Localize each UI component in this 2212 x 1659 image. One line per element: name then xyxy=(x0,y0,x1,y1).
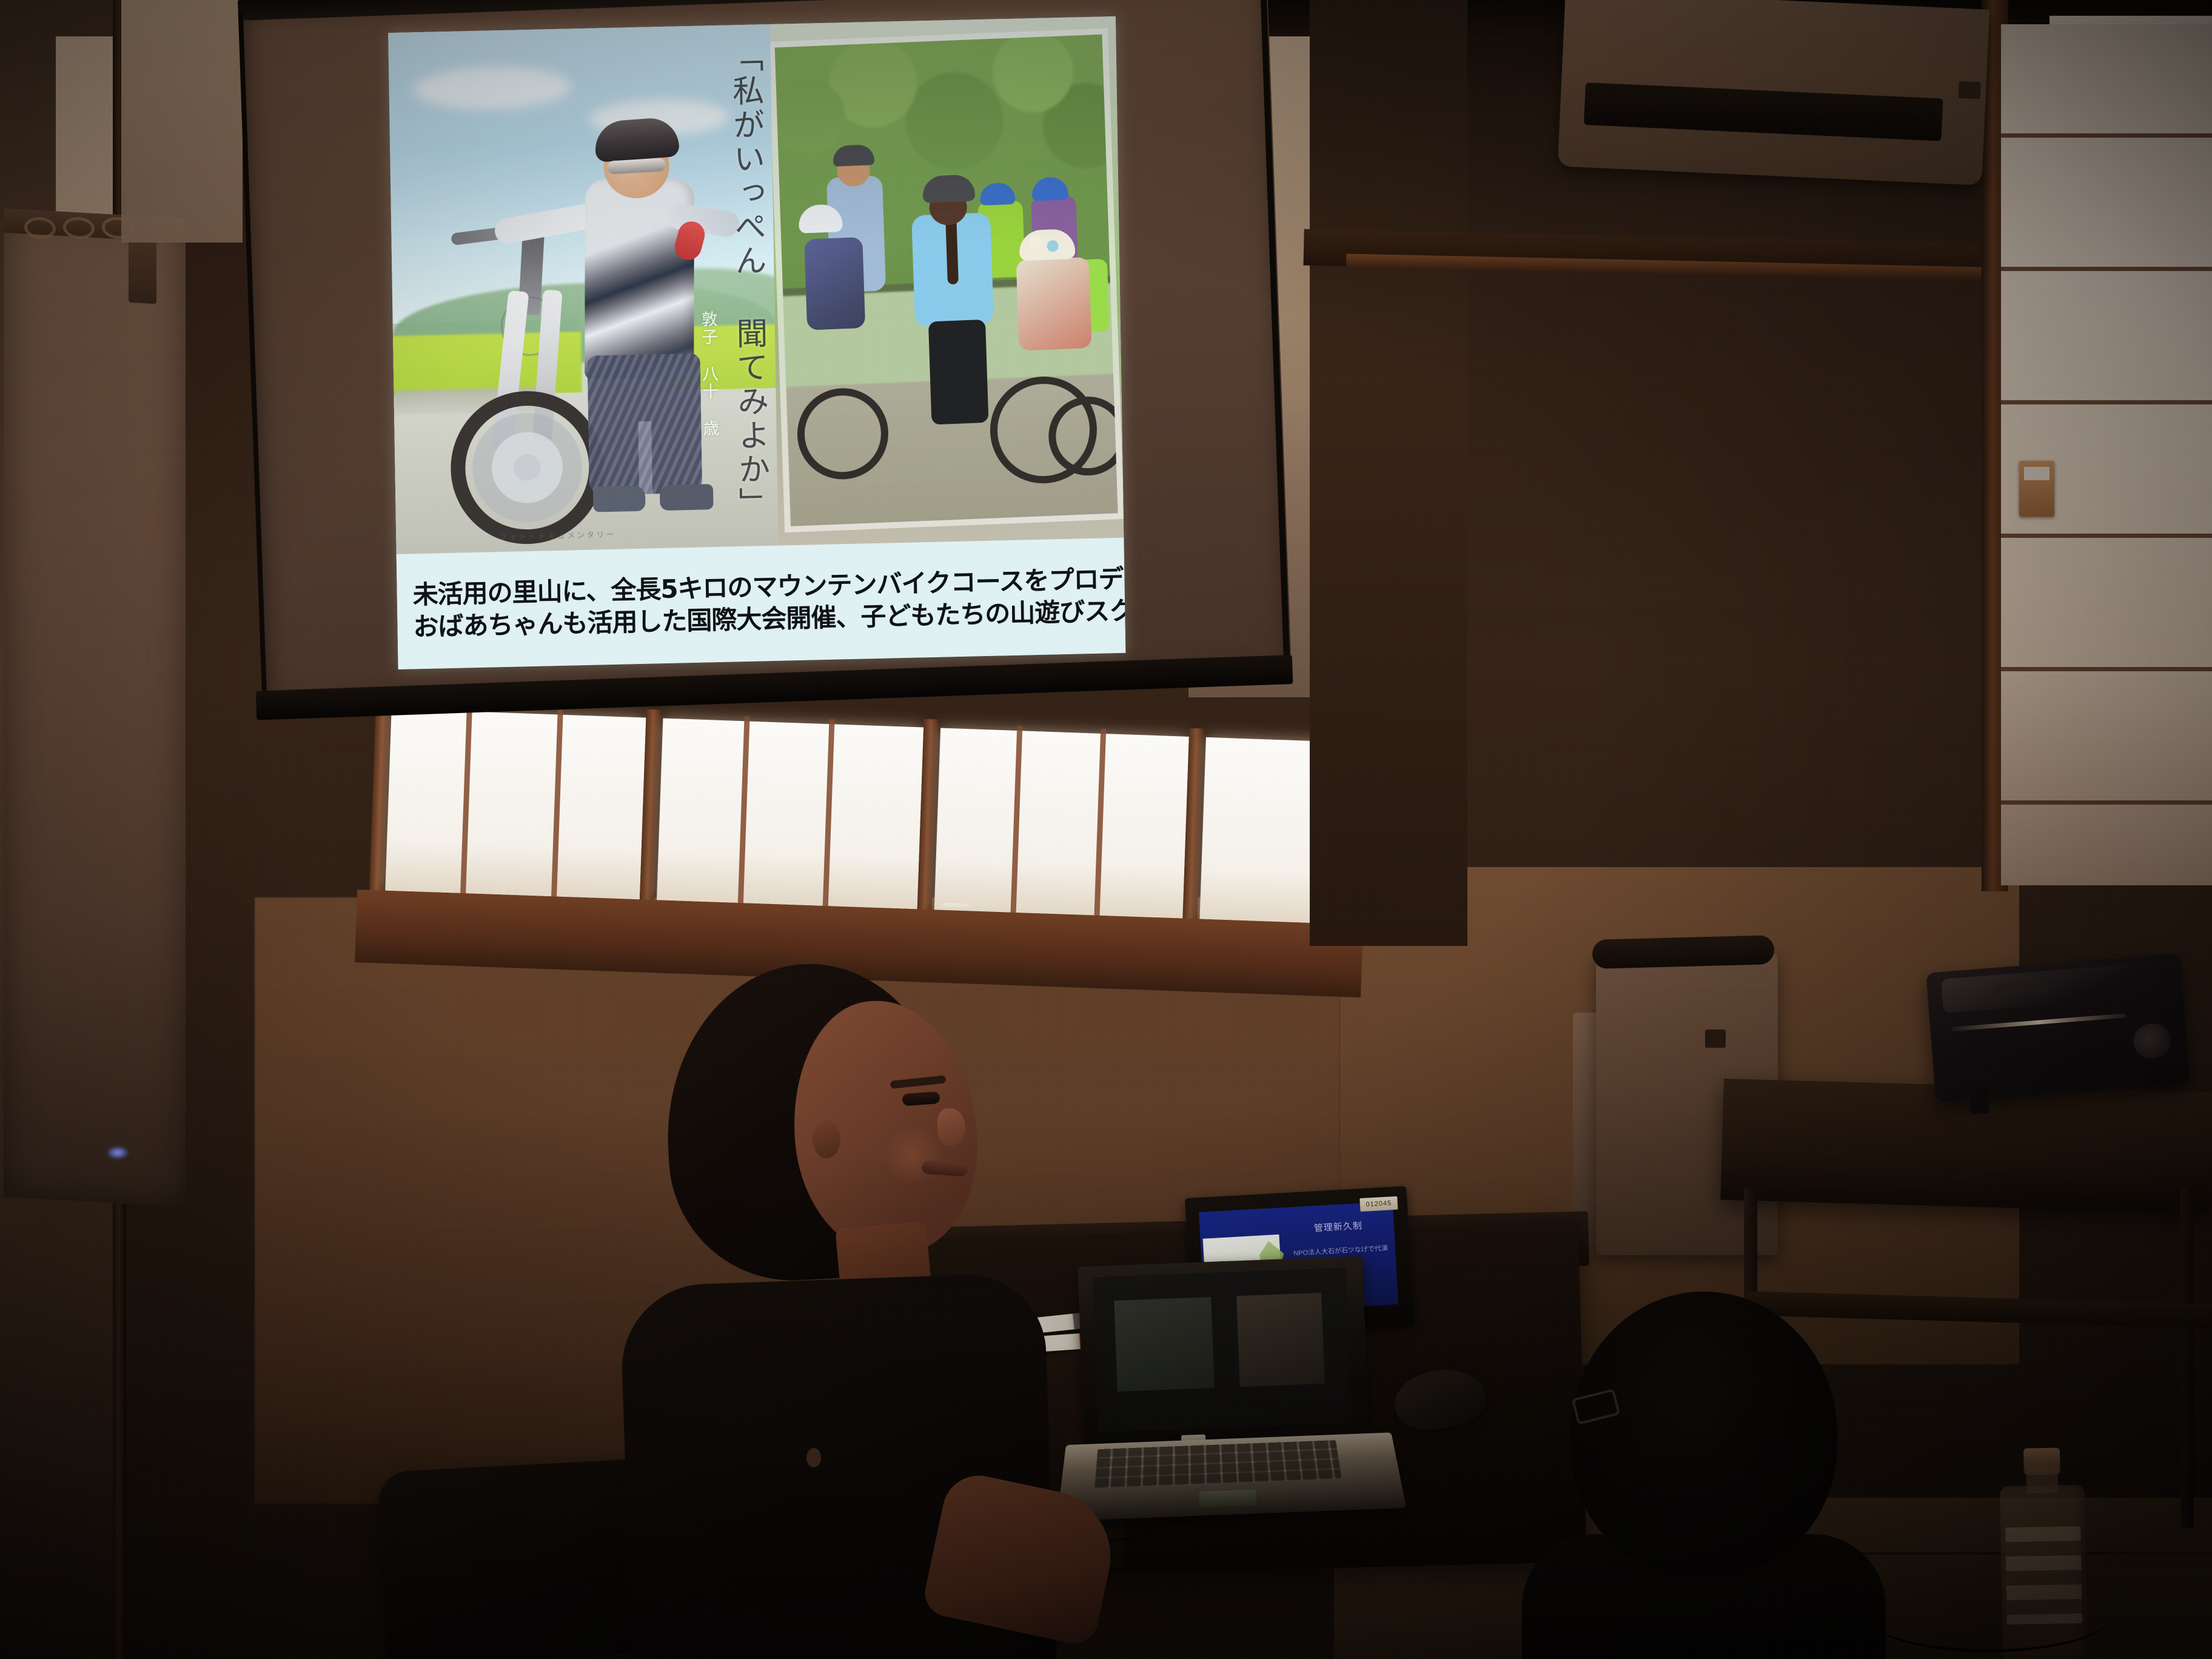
whiteboard-clamp xyxy=(129,236,156,304)
photo-inner-frame xyxy=(775,35,1118,526)
shoji-lath xyxy=(2001,667,2212,671)
air-purifier-top-vent xyxy=(1592,935,1774,969)
shoji-lath xyxy=(2001,400,2212,404)
projector-gloss-highlight xyxy=(1941,962,2161,1013)
presenter xyxy=(594,964,1128,1659)
shoji-lath xyxy=(2001,133,2212,138)
switch-rocker[interactable] xyxy=(2024,467,2049,480)
projection-screen: 「私がいっぺん 聞てみよか」 敦子 八十 歳 フォト・ドキュメンタリー xyxy=(238,0,1294,745)
photo-child-torso xyxy=(1016,257,1092,351)
laptop-screen-thumbnail xyxy=(1114,1297,1215,1392)
audience-head xyxy=(1570,1292,1837,1577)
whiteboard xyxy=(4,209,186,1207)
slide-vertical-quote: 「私がいっぺん 聞てみよか」 xyxy=(727,40,768,521)
projector-light-strip xyxy=(1951,1013,2127,1031)
air-purifier-badge xyxy=(1705,1030,1726,1048)
presenter-nose xyxy=(937,1108,965,1146)
photo-child-torso xyxy=(804,237,865,330)
photo-girl-legs xyxy=(928,320,989,425)
blue-light-reflection xyxy=(107,1146,129,1159)
presenter-shirt-button xyxy=(806,1448,821,1467)
shoji-lath xyxy=(2001,267,2212,271)
laptop-primary-screen xyxy=(1093,1267,1352,1432)
slide-photo-row: 「私がいっぺん 聞てみよか」 敦子 八十 歳 フォト・ドキュメンタリー xyxy=(388,16,1124,554)
projected-slide: 「私がいっぺん 聞てみよか」 敦子 八十 歳 フォト・ドキュメンタリー xyxy=(388,16,1125,669)
photo-scene: 「私がいっぺん 聞てみよか」 敦子 八十 歳 フォト・ドキュメンタリー xyxy=(0,0,2212,1659)
photo-rider-shoe-right xyxy=(660,484,714,511)
photo-girl-ponytail xyxy=(945,218,959,285)
slide-vertical-subtext: 敦子 八十 歳 xyxy=(699,310,719,438)
audience-member xyxy=(1558,1292,1849,1659)
photo-rider-shoe-left xyxy=(593,486,646,512)
window-pane xyxy=(934,728,1189,919)
laptop-asset-sticker: 012045 xyxy=(1359,1196,1398,1212)
window-strip xyxy=(368,703,1358,956)
slide-photo-grandma-mtb: 「私がいっぺん 聞てみよか」 敦子 八十 歳 フォト・ドキュメンタリー xyxy=(388,24,778,554)
air-conditioner-badge xyxy=(1959,81,1981,99)
projector xyxy=(1926,953,2190,1103)
wall-column xyxy=(1310,0,1467,946)
upper-left-shoji xyxy=(121,0,243,243)
presenter-ear xyxy=(813,1121,840,1158)
laptop-screen-thumbnail xyxy=(1236,1293,1325,1387)
photo-rider-monpe-trousers xyxy=(588,354,703,495)
shoji-lath xyxy=(2001,534,2212,538)
laptop-slide-title: 管理新久制 xyxy=(1289,1218,1387,1236)
light-switch[interactable] xyxy=(2019,461,2054,517)
laptop-trackpad[interactable] xyxy=(1199,1489,1256,1507)
shoji-screen-right[interactable] xyxy=(2001,24,2212,885)
slide-caption: 未活用の里山に、全長5キロのマウンテンバイクコースをプロデュース おばあちゃんも… xyxy=(397,538,1126,669)
window-pane xyxy=(657,719,923,910)
projector-foot xyxy=(1969,1088,1989,1114)
side-table-leg xyxy=(2180,1188,2194,1528)
power-cable xyxy=(1862,1570,2116,1652)
projector-lens xyxy=(2132,1022,2172,1061)
shoji-lath xyxy=(2001,800,2212,805)
air-conditioner-vent xyxy=(1584,82,1943,141)
slide-photo-kids-mtb xyxy=(770,16,1124,546)
air-conditioner xyxy=(1558,0,1989,186)
